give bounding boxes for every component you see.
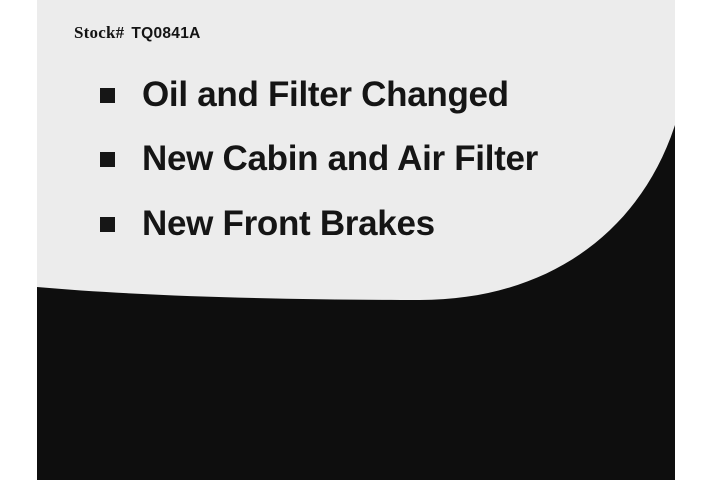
list-item-label: New Cabin and Air Filter xyxy=(142,139,538,178)
list-item: Oil and Filter Changed xyxy=(100,75,509,114)
filled-square-bullet-icon xyxy=(100,152,115,167)
stock-number: Stock#TQ0841A xyxy=(74,24,201,42)
slide-canvas: Stock#TQ0841A Oil and Filter Changed New… xyxy=(0,0,720,480)
filled-square-bullet-icon xyxy=(100,217,115,232)
list-item: New Front Brakes xyxy=(100,204,435,243)
list-item-label: New Front Brakes xyxy=(142,204,435,243)
stock-value: TQ0841A xyxy=(131,25,200,42)
list-item-label: Oil and Filter Changed xyxy=(142,75,509,114)
slide-content: Stock#TQ0841A Oil and Filter Changed New… xyxy=(0,0,720,480)
stock-label: Stock# xyxy=(74,23,124,42)
list-item: New Cabin and Air Filter xyxy=(100,139,538,178)
filled-square-bullet-icon xyxy=(100,88,115,103)
